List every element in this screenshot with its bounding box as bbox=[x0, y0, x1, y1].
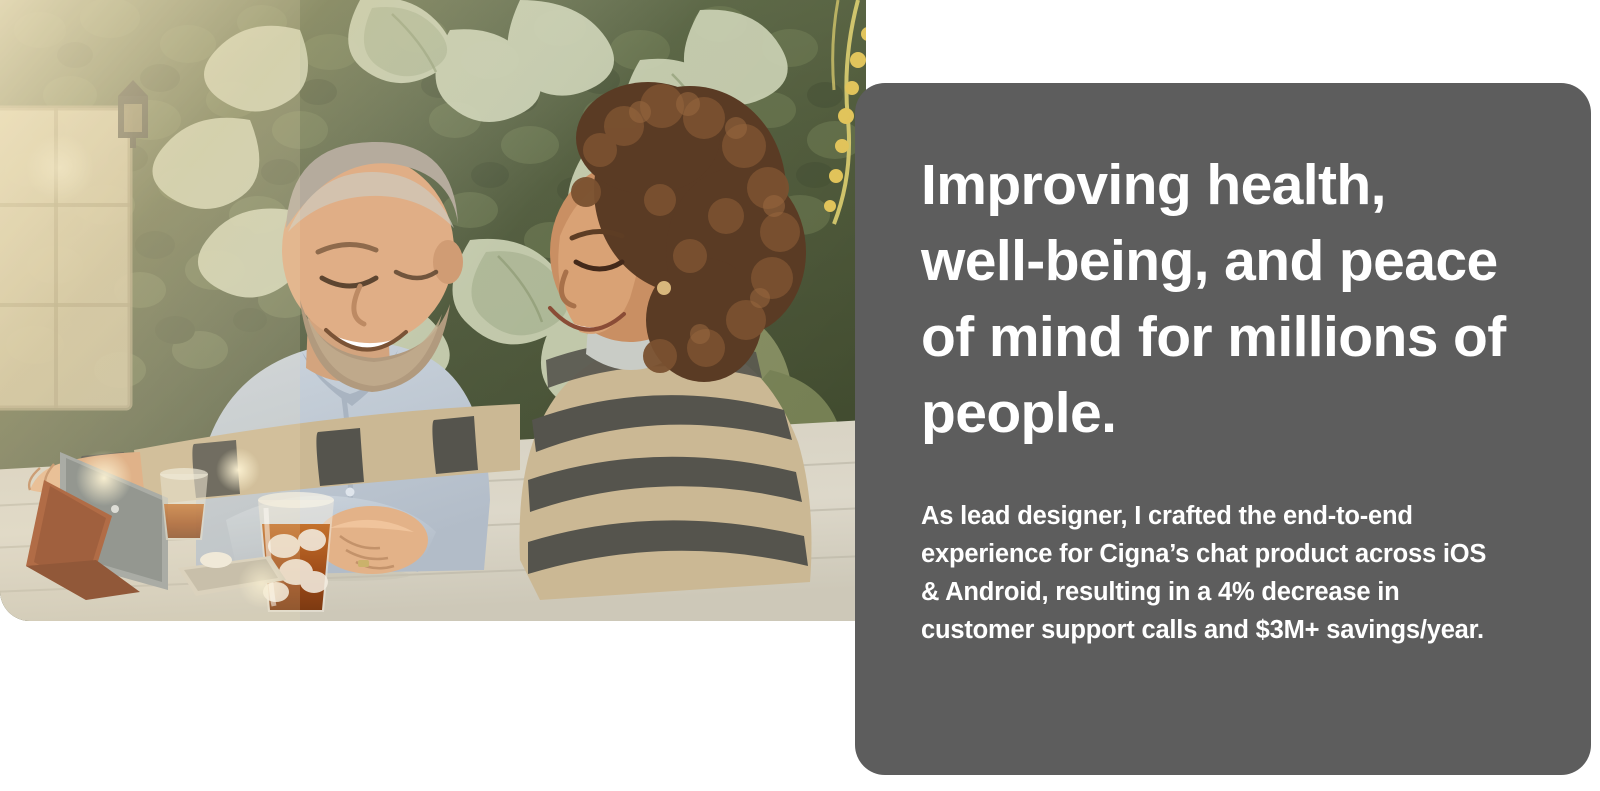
info-card: Improving health, well-being, and peace … bbox=[855, 83, 1591, 775]
page-root: Improving health, well-being, and peace … bbox=[0, 0, 1600, 791]
card-body-text: As lead designer, I crafted the end-to-e… bbox=[921, 497, 1501, 649]
hero-photo bbox=[0, 0, 866, 621]
card-heading: Improving health, well-being, and peace … bbox=[921, 147, 1511, 451]
hero-photo-illustration bbox=[0, 0, 866, 621]
clasped-hands bbox=[316, 506, 428, 574]
